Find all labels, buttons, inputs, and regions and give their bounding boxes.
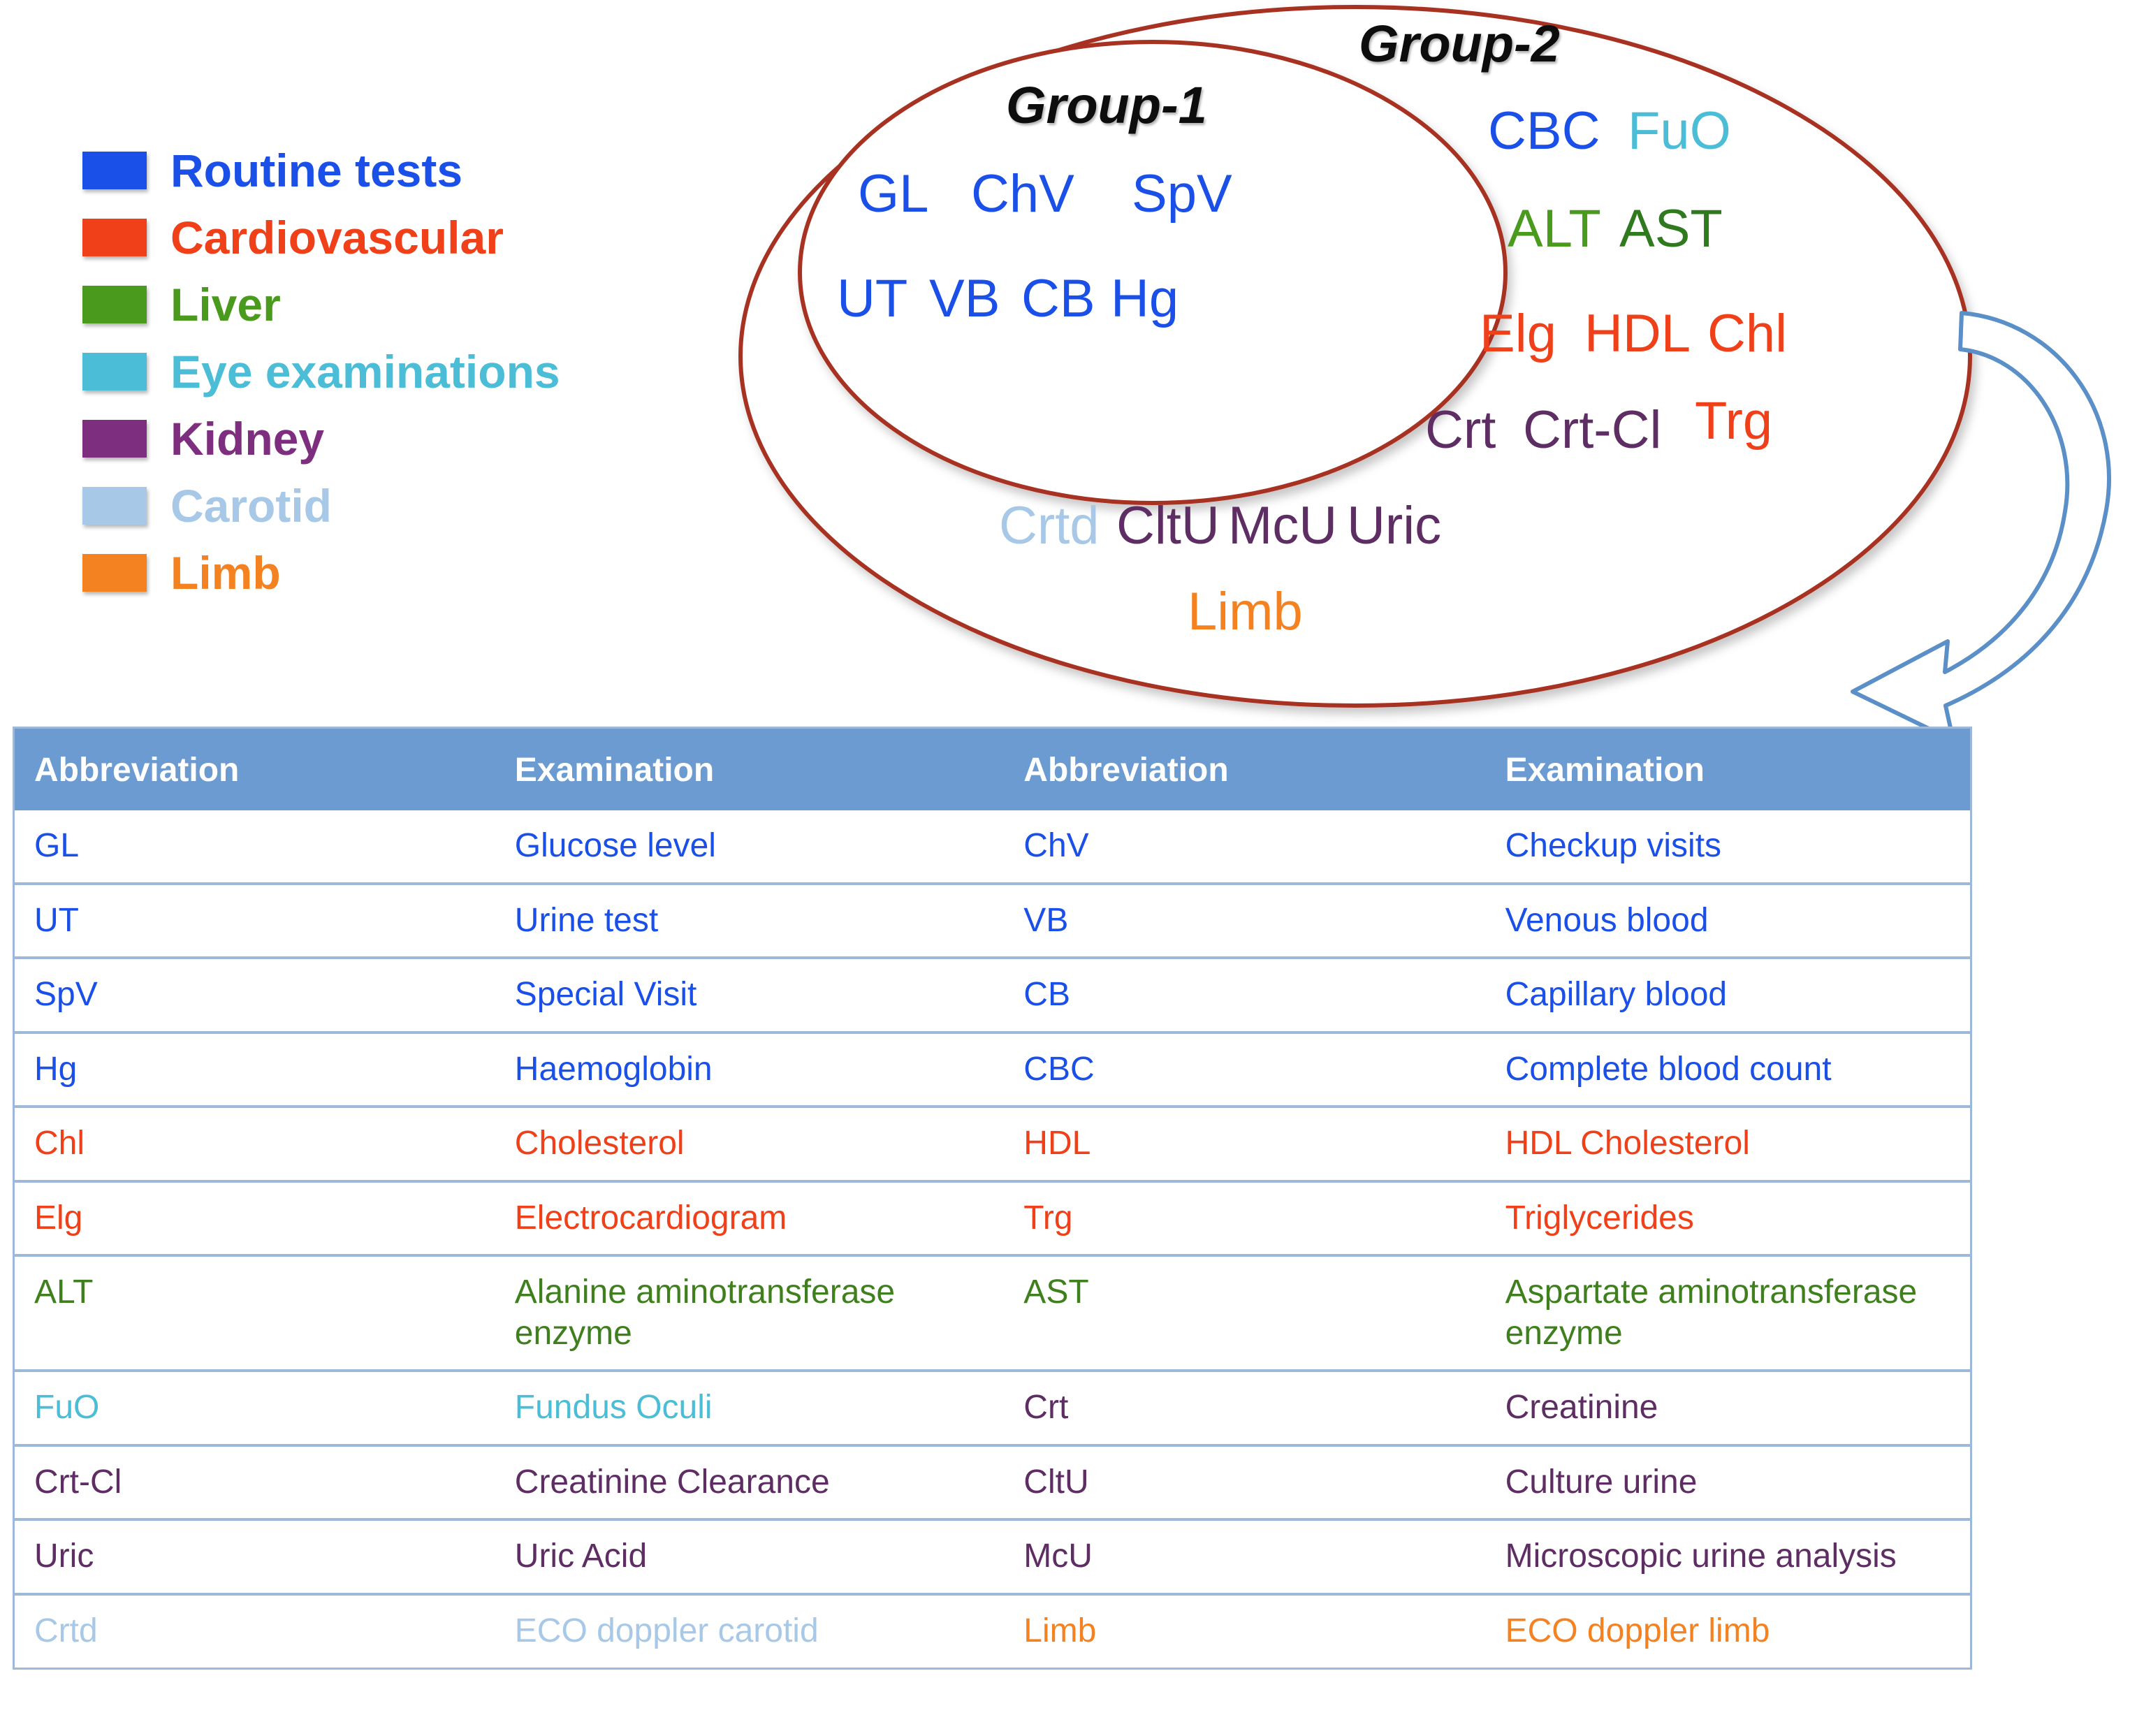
- legend-item-label: Limb: [170, 550, 281, 596]
- legend-swatch-icon: [82, 286, 147, 323]
- legend-item-eye-examinations: Eye examinations: [82, 338, 683, 405]
- venn-item-alt: ALT: [1508, 203, 1601, 256]
- table-cell-c2: ECO doppler carotid: [495, 1594, 1005, 1668]
- group1-label: Group-1: [1006, 75, 1207, 135]
- table-cell-c1: FuO: [14, 1371, 495, 1445]
- table-cell-c4: Complete blood count: [1486, 1033, 1971, 1107]
- legend-item-label: Liver: [170, 282, 281, 328]
- venn-item-elg: Elg: [1480, 307, 1556, 360]
- venn-item-chv: ChV: [971, 168, 1074, 221]
- table-cell-c3: Crt: [1004, 1371, 1485, 1445]
- table-cell-c2: Fundus Oculi: [495, 1371, 1005, 1445]
- table-row: UTUrine testVBVenous blood: [14, 884, 1971, 958]
- column-header-abbreviation-2: Abbreviation: [1004, 728, 1485, 811]
- venn-item-crt: Crt: [1425, 404, 1496, 457]
- legend-item-label: Cardiovascular: [170, 214, 504, 261]
- venn-item-uric: Uric: [1347, 499, 1441, 553]
- column-header-examination-1: Examination: [495, 728, 1005, 811]
- venn-item-crt-cl: Crt-Cl: [1523, 404, 1661, 457]
- venn-item-ut: UT: [837, 272, 907, 326]
- venn-item-trg: Trg: [1695, 395, 1772, 448]
- venn-item-cb: CB: [1021, 272, 1095, 326]
- table-cell-c2: Electrocardiogram: [495, 1181, 1005, 1256]
- table-row: FuOFundus OculiCrtCreatinine: [14, 1371, 1971, 1445]
- table-cell-c1: Crt-Cl: [14, 1445, 495, 1520]
- column-header-examination-2: Examination: [1486, 728, 1971, 811]
- table-cell-c1: Hg: [14, 1033, 495, 1107]
- table-row: Crt-ClCreatinine ClearanceCltUCulture ur…: [14, 1445, 1971, 1520]
- venn-item-cltu: CltU: [1116, 499, 1220, 553]
- table-cell-c1: UT: [14, 884, 495, 958]
- column-header-abbreviation-1: Abbreviation: [14, 728, 495, 811]
- table-cell-c4: Microscopic urine analysis: [1486, 1519, 1971, 1594]
- table-cell-c2: Glucose level: [495, 810, 1005, 884]
- table-row: ALTAlanine aminotransferase enzymeASTAsp…: [14, 1255, 1971, 1371]
- legend-item-label: Kidney: [170, 416, 324, 462]
- table-row: ElgElectrocardiogramTrgTriglycerides: [14, 1181, 1971, 1256]
- table-cell-c3: McU: [1004, 1519, 1485, 1594]
- table-row: UricUric AcidMcUMicroscopic urine analys…: [14, 1519, 1971, 1594]
- table-cell-c3: Limb: [1004, 1594, 1485, 1668]
- table-row: CrtdECO doppler carotidLimbECO doppler l…: [14, 1594, 1971, 1668]
- table-cell-c2: Cholesterol: [495, 1107, 1005, 1181]
- table-cell-c3: HDL: [1004, 1107, 1485, 1181]
- table-cell-c4: Triglycerides: [1486, 1181, 1971, 1256]
- legend-swatch-icon: [82, 420, 147, 458]
- table-cell-c1: Chl: [14, 1107, 495, 1181]
- table-cell-c3: VB: [1004, 884, 1485, 958]
- table-cell-c3: AST: [1004, 1255, 1485, 1371]
- table-cell-c2: Uric Acid: [495, 1519, 1005, 1594]
- table-cell-c1: SpV: [14, 958, 495, 1033]
- legend-swatch-icon: [82, 487, 147, 525]
- venn-item-gl: GL: [858, 168, 928, 221]
- table-cell-c4: Checkup visits: [1486, 810, 1971, 884]
- table-cell-c1: Crtd: [14, 1594, 495, 1668]
- table-cell-c3: ChV: [1004, 810, 1485, 884]
- table-row: ChlCholesterolHDLHDL Cholesterol: [14, 1107, 1971, 1181]
- legend-item-cardiovascular: Cardiovascular: [82, 204, 683, 271]
- legend-item-label: Routine tests: [170, 147, 462, 194]
- table-cell-c2: Creatinine Clearance: [495, 1445, 1005, 1520]
- venn-item-cbc: CBC: [1488, 105, 1600, 158]
- legend-item-limb: Limb: [82, 539, 683, 606]
- table-cell-c3: CltU: [1004, 1445, 1485, 1520]
- table-cell-c1: Elg: [14, 1181, 495, 1256]
- venn-ellipses: [727, 0, 2096, 747]
- table-cell-c2: Urine test: [495, 884, 1005, 958]
- table-cell-c4: Capillary blood: [1486, 958, 1971, 1033]
- table-cell-c4: Aspartate aminotransferase enzyme: [1486, 1255, 1971, 1371]
- abbreviation-table-container: Abbreviation Examination Abbreviation Ex…: [13, 727, 1972, 1670]
- table-cell-c1: Uric: [14, 1519, 495, 1594]
- venn-item-chl: Chl: [1707, 307, 1787, 360]
- abbreviation-table: Abbreviation Examination Abbreviation Ex…: [13, 727, 1972, 1670]
- table-cell-c4: Creatinine: [1486, 1371, 1971, 1445]
- legend-item-carotid: Carotid: [82, 472, 683, 539]
- venn-item-fuo: FuO: [1628, 105, 1731, 158]
- venn-item-mcu: McU: [1228, 499, 1337, 553]
- table-cell-c2: Special Visit: [495, 958, 1005, 1033]
- legend-item-routine-tests: Routine tests: [82, 137, 683, 204]
- table-cell-c4: Venous blood: [1486, 884, 1971, 958]
- table-header-row: Abbreviation Examination Abbreviation Ex…: [14, 728, 1971, 811]
- group2-label: Group-2: [1359, 14, 1560, 73]
- table-row: HgHaemoglobinCBCComplete blood count: [14, 1033, 1971, 1107]
- category-legend: Routine testsCardiovascularLiverEye exam…: [82, 137, 683, 606]
- table-cell-c3: CBC: [1004, 1033, 1485, 1107]
- legend-swatch-icon: [82, 152, 147, 189]
- table-cell-c2: Haemoglobin: [495, 1033, 1005, 1107]
- table-cell-c4: Culture urine: [1486, 1445, 1971, 1520]
- legend-swatch-icon: [82, 353, 147, 391]
- table-cell-c1: ALT: [14, 1255, 495, 1371]
- venn-item-hg: Hg: [1111, 272, 1179, 326]
- venn-item-crtd: Crtd: [999, 499, 1100, 553]
- table-row: GLGlucose levelChVCheckup visits: [14, 810, 1971, 884]
- legend-swatch-icon: [82, 554, 147, 592]
- legend-item-label: Eye examinations: [170, 349, 560, 395]
- venn-item-ast: AST: [1619, 203, 1723, 256]
- venn-item-hdl: HDL: [1584, 307, 1691, 360]
- table-body: GLGlucose levelChVCheckup visitsUTUrine …: [14, 810, 1971, 1668]
- table-cell-c2: Alanine aminotransferase enzyme: [495, 1255, 1005, 1371]
- legend-item-liver: Liver: [82, 271, 683, 338]
- table-cell-c4: ECO doppler limb: [1486, 1594, 1971, 1668]
- venn-item-vb: VB: [929, 272, 1000, 326]
- venn-item-spv: SpV: [1132, 168, 1232, 221]
- table-cell-c1: GL: [14, 810, 495, 884]
- venn-diagram: Group-2 Group-1 GLChVSpVUTVBCBHg CBCFuOA…: [727, 0, 2096, 747]
- legend-item-label: Carotid: [170, 483, 332, 529]
- table-cell-c4: HDL Cholesterol: [1486, 1107, 1971, 1181]
- table-cell-c3: Trg: [1004, 1181, 1485, 1256]
- venn-item-limb: Limb: [1188, 585, 1303, 639]
- legend-item-kidney: Kidney: [82, 405, 683, 472]
- table-cell-c3: CB: [1004, 958, 1485, 1033]
- legend-swatch-icon: [82, 219, 147, 256]
- table-row: SpVSpecial VisitCBCapillary blood: [14, 958, 1971, 1033]
